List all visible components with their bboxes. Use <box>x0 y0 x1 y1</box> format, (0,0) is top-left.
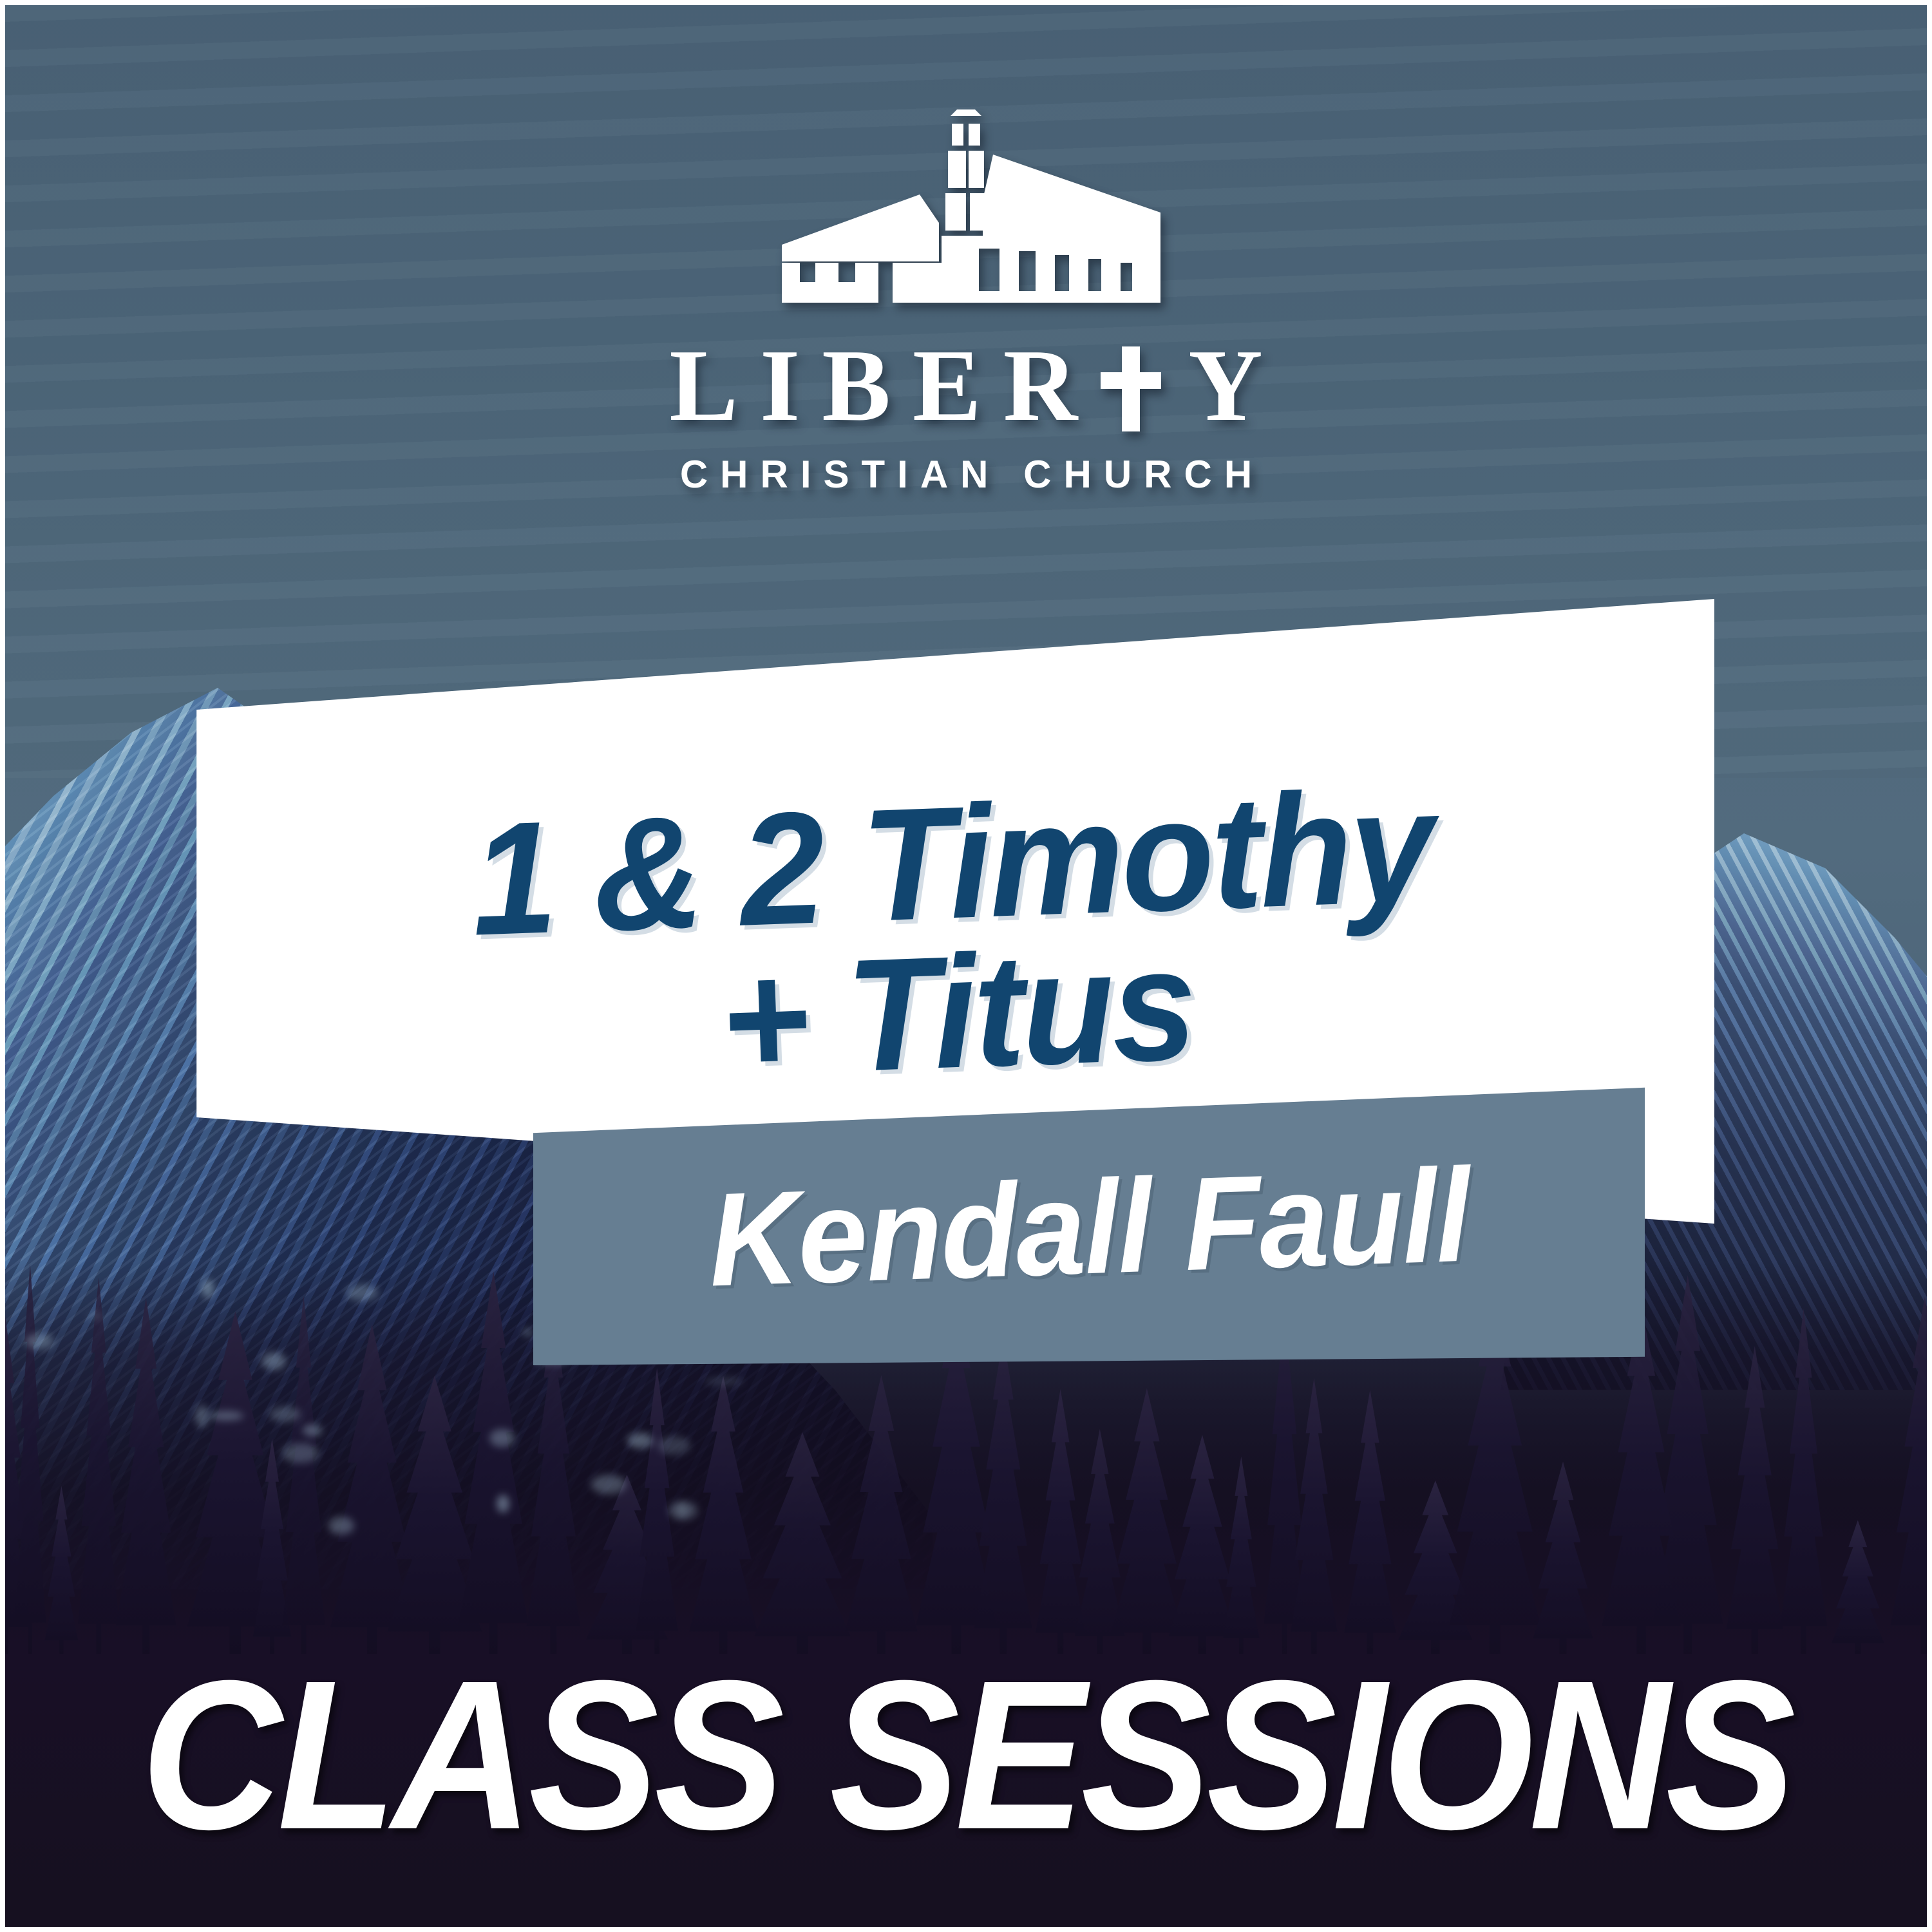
snow-glint <box>346 1285 379 1301</box>
logo-wordmark-part2: Y <box>1166 334 1285 437</box>
snow-glint <box>658 1436 691 1455</box>
bottom-headline: CLASS SESSIONS <box>77 1649 1855 1861</box>
conifer-tree <box>1874 1296 1927 1654</box>
snow-glint <box>25 1334 53 1349</box>
snow-glint <box>489 1429 514 1447</box>
conifer-tree <box>1769 1309 1839 1654</box>
logo-subtitle: CHRISTIAN CHURCH <box>668 452 1264 497</box>
snow-glint <box>668 1501 697 1520</box>
cover-art-canvas: LIBER Y CHRISTIAN CHURCH 1 & 2 Timothy +… <box>0 0 1932 1932</box>
snow-glint <box>269 1406 301 1422</box>
snow-glint <box>88 1312 104 1320</box>
church-logo: LIBER Y CHRISTIAN CHURCH <box>0 109 1932 497</box>
snow-glint <box>195 1405 209 1427</box>
logo-wordmark-part1: LIBER <box>647 334 1099 437</box>
snow-glint <box>303 1425 322 1436</box>
conifer-tree <box>37 1486 86 1654</box>
cross-icon <box>1101 346 1162 431</box>
church-building-icon <box>766 109 1166 322</box>
conifer-tree <box>1819 1520 1897 1654</box>
conifer-tree <box>828 1375 935 1654</box>
snow-glint <box>523 1329 532 1336</box>
snow-glint <box>497 1495 509 1513</box>
conifer-tree <box>68 1278 129 1654</box>
snow-glint <box>282 1443 319 1463</box>
snow-glint <box>202 1280 214 1298</box>
snow-glint <box>704 1378 744 1385</box>
logo-wordmark: LIBER Y <box>647 334 1285 437</box>
snow-glint <box>261 1352 286 1370</box>
snow-glint <box>627 1433 654 1448</box>
conifer-tree <box>1332 1390 1408 1654</box>
snow-glint <box>209 1411 244 1420</box>
